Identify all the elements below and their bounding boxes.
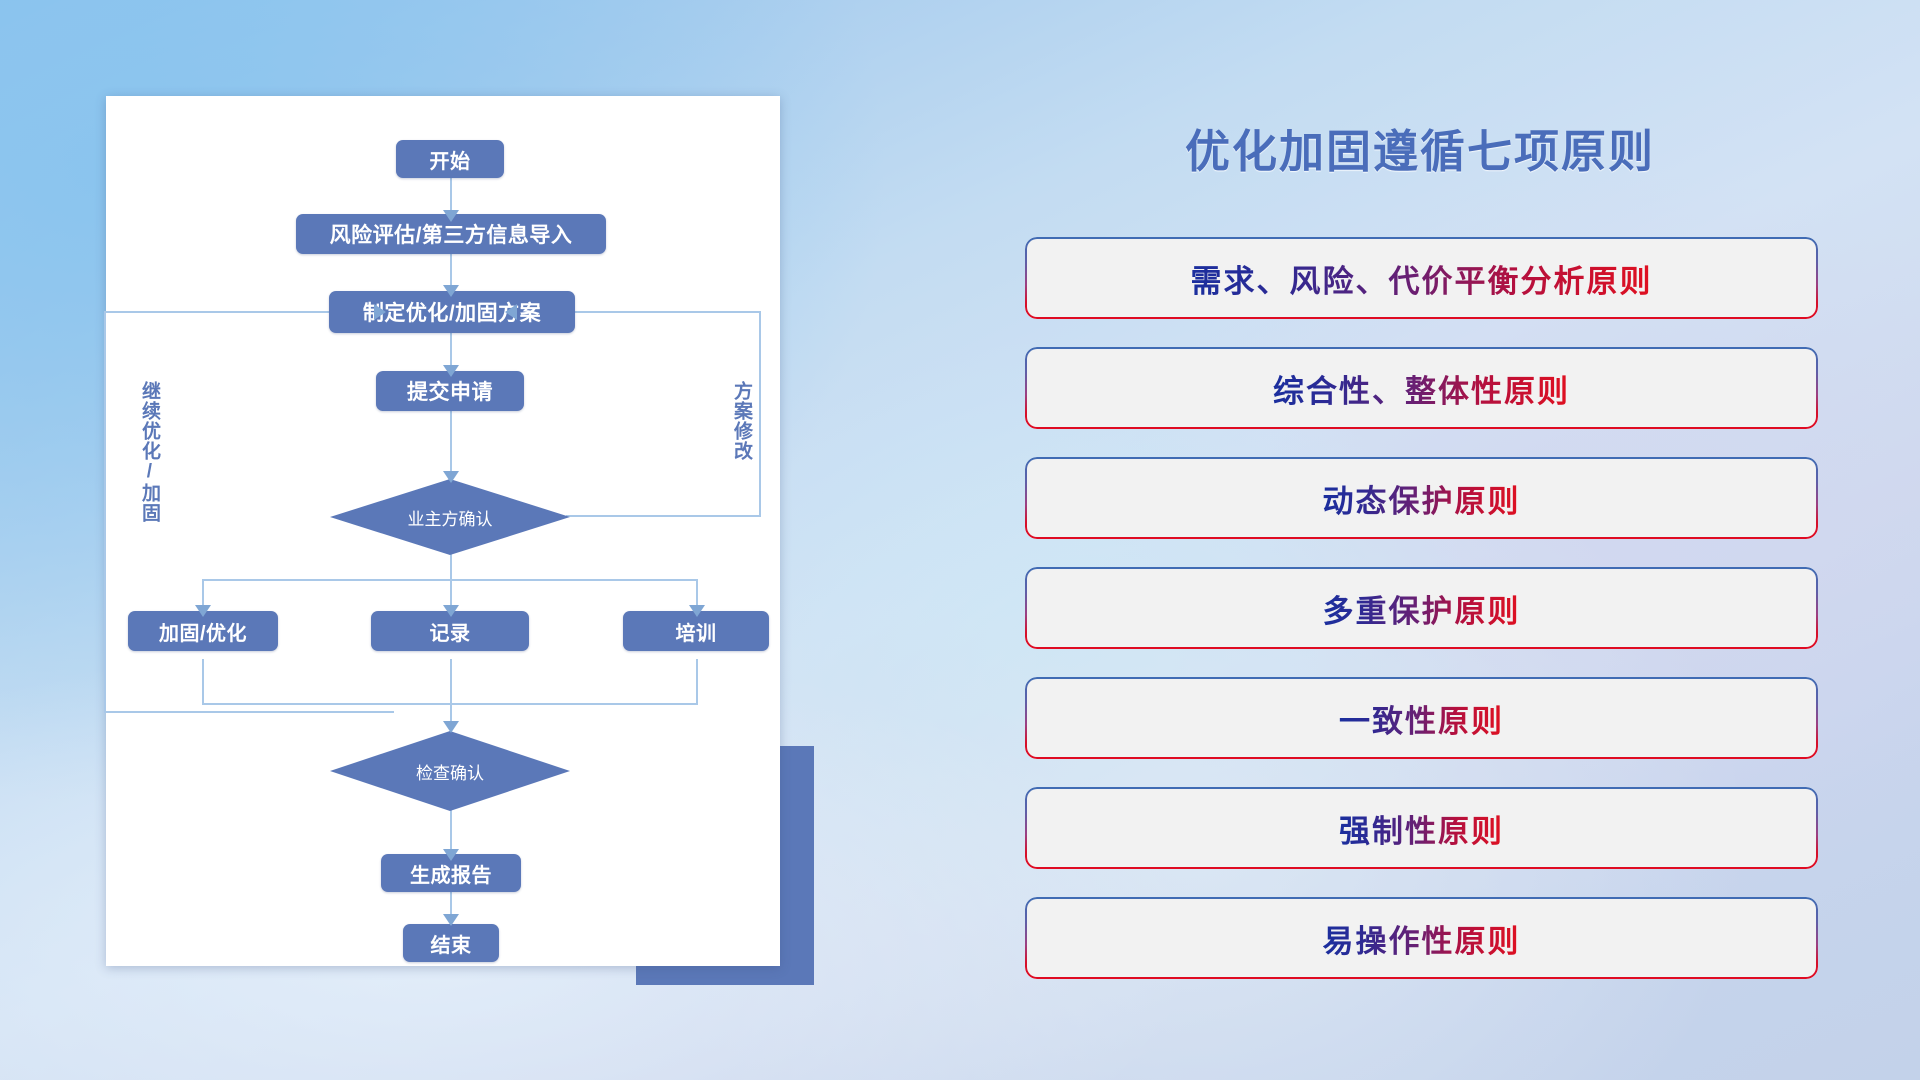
- flow-node-owner-confirm[interactable]: 业主方确认: [330, 479, 570, 555]
- flow-node-inspection-confirm[interactable]: 检查确认: [330, 731, 570, 811]
- connector-submit-to-owner: [450, 409, 452, 479]
- flowchart: 继续优化/加固 方案修改 开始 风险评估/第三方信息导入 制定优化/加固方案 提…: [106, 96, 780, 966]
- arrowhead-to-training: [689, 605, 705, 617]
- principles-title: 优化加固遵循七项原则: [1020, 115, 1820, 180]
- flowchart-panel: 继续优化/加固 方案修改 开始 风险评估/第三方信息导入 制定优化/加固方案 提…: [106, 96, 780, 966]
- principle-card-5[interactable]: 一致性原则: [1025, 677, 1818, 759]
- flow-node-submit-application[interactable]: 提交申请: [376, 371, 524, 411]
- principle-label-4: 多重保护原则: [1323, 586, 1521, 631]
- principle-label-6: 强制性原则: [1339, 806, 1504, 851]
- arrowhead-report-to-end: [443, 914, 459, 926]
- slide-canvas: 继续优化/加固 方案修改 开始 风险评估/第三方信息导入 制定优化/加固方案 提…: [0, 0, 1920, 1080]
- principle-card-3[interactable]: 动态保护原则: [1025, 457, 1818, 539]
- connector-training-down: [696, 659, 698, 705]
- arrowhead-merge-to-check: [443, 721, 459, 733]
- connector-owner-right-out: [566, 515, 761, 517]
- arrowhead-left-loop-to-plan: [374, 304, 386, 320]
- principle-card-2[interactable]: 综合性、整体性原则: [1025, 347, 1818, 429]
- arrowhead-to-record: [443, 605, 459, 617]
- connector-check-left-out: [104, 711, 394, 713]
- connector-owner-down: [450, 551, 452, 579]
- edge-label-continue-optimize: 继续优化/加固: [139, 381, 159, 523]
- flow-node-make-plan[interactable]: 制定优化/加固方案: [329, 291, 575, 333]
- arrowhead-check-to-report: [443, 849, 459, 861]
- principle-card-4[interactable]: 多重保护原则: [1025, 567, 1818, 649]
- flow-node-training[interactable]: 培训: [623, 611, 769, 651]
- principle-label-2: 综合性、整体性原则: [1273, 366, 1570, 411]
- principles-list: 需求、风险、代价平衡分析原则 综合性、整体性原则 动态保护原则 多重保护原则 一…: [1025, 237, 1818, 1007]
- flow-node-reinforce-optimize[interactable]: 加固/优化: [128, 611, 278, 651]
- principles-panel: 优化加固遵循七项原则 需求、风险、代价平衡分析原则 综合性、整体性原则 动态保护…: [1020, 96, 1860, 996]
- edge-label-plan-revision: 方案修改: [731, 381, 751, 461]
- principle-card-1[interactable]: 需求、风险、代价平衡分析原则: [1025, 237, 1818, 319]
- arrowhead-plan-to-submit: [443, 365, 459, 377]
- flow-node-end[interactable]: 结束: [403, 924, 499, 962]
- arrowhead-right-loop-to-plan: [505, 304, 517, 320]
- principle-label-3: 动态保护原则: [1323, 476, 1521, 521]
- principle-label-1: 需求、风险、代价平衡分析原则: [1191, 256, 1653, 301]
- arrowhead-to-reinforce: [195, 605, 211, 617]
- arrowhead-submit-to-owner: [443, 471, 459, 483]
- principle-label-7: 易操作性原则: [1323, 916, 1521, 961]
- principle-card-6[interactable]: 强制性原则: [1025, 787, 1818, 869]
- arrowhead-start-to-risk: [443, 210, 459, 222]
- flow-node-start[interactable]: 开始: [396, 140, 504, 178]
- principle-card-7[interactable]: 易操作性原则: [1025, 897, 1818, 979]
- connector-left-loop-vertical: [104, 311, 106, 713]
- principle-label-5: 一致性原则: [1339, 696, 1504, 741]
- connector-reinforce-down: [202, 659, 204, 705]
- connector-right-loop-vertical: [759, 311, 761, 517]
- flow-node-record[interactable]: 记录: [371, 611, 529, 651]
- connector-record-down: [450, 659, 452, 705]
- arrowhead-risk-to-plan: [443, 285, 459, 297]
